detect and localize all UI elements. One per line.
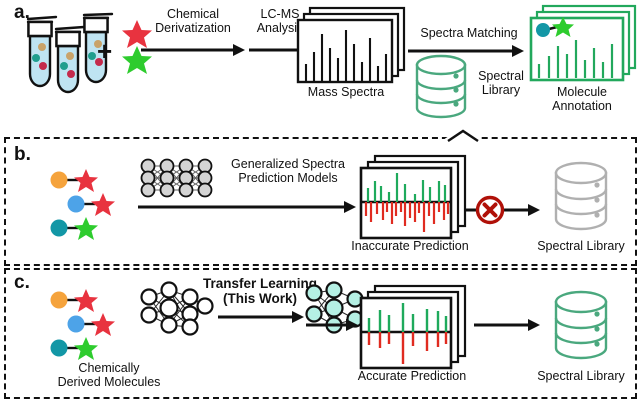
spectral-library-cylinder-a	[412, 56, 470, 118]
figure-root: a.	[0, 0, 641, 403]
molecule-2	[68, 313, 116, 336]
molecule-2	[68, 193, 116, 216]
chemically-derived-molecules-label: Chemically Derived Molecules	[36, 362, 182, 389]
inaccurate-prediction-cards	[359, 154, 469, 242]
panel-c-molecules	[44, 288, 128, 364]
generalized-model-network	[138, 157, 216, 199]
panel-b-arrow-1	[138, 200, 356, 214]
molecule-annotation-label: Molecule Annotation	[528, 86, 636, 113]
arrow-1	[141, 43, 245, 57]
transfer-learning-label-line1: Transfer Learning	[196, 276, 324, 291]
panel-b-letter: b.	[14, 144, 31, 166]
molecule-3	[51, 217, 99, 240]
panel-b-arrow-blocked	[466, 195, 540, 225]
test-tube-2	[56, 27, 84, 92]
generalized-model-label: Generalized Spectra Prediction Models	[218, 158, 358, 185]
spectral-library-cylinder-c	[551, 292, 611, 360]
spectral-library-label-a: Spectral Library	[470, 70, 532, 97]
panel-c-arrow-2	[474, 318, 540, 332]
accurate-prediction-label: Accurate Prediction	[349, 370, 475, 384]
arrow-label-chemical-derivatization: Chemical Derivatization	[141, 8, 245, 35]
panel-c-arrow-1	[306, 318, 358, 332]
spectral-library-cylinder-b	[551, 163, 611, 231]
spectral-library-label-c: Spectral Library	[521, 370, 641, 384]
mass-spectra-label: Mass Spectra	[288, 86, 404, 100]
inaccurate-prediction-label: Inaccurate Prediction	[345, 240, 475, 254]
transfer-learning-arrow	[218, 310, 304, 324]
molecule-3	[51, 337, 99, 360]
panel-c-letter: c.	[14, 272, 30, 294]
panel-b-molecules	[44, 168, 128, 244]
panel-connector-notch	[446, 128, 482, 142]
cross-mark-icon	[478, 198, 503, 223]
molecule-annotation-cards	[529, 4, 639, 88]
molecule-1	[51, 289, 99, 312]
molecule-1	[51, 169, 99, 192]
plus-symbol: +	[97, 36, 112, 67]
spectral-library-label-b: Spectral Library	[521, 240, 641, 254]
accurate-prediction-cards	[359, 284, 469, 372]
transfer-learning-label-line2: (This Work)	[196, 291, 324, 306]
test-tube-1	[28, 17, 56, 86]
mass-spectra-cards	[296, 6, 408, 88]
arrow-label-spectra-matching: Spectra Matching	[408, 27, 530, 41]
